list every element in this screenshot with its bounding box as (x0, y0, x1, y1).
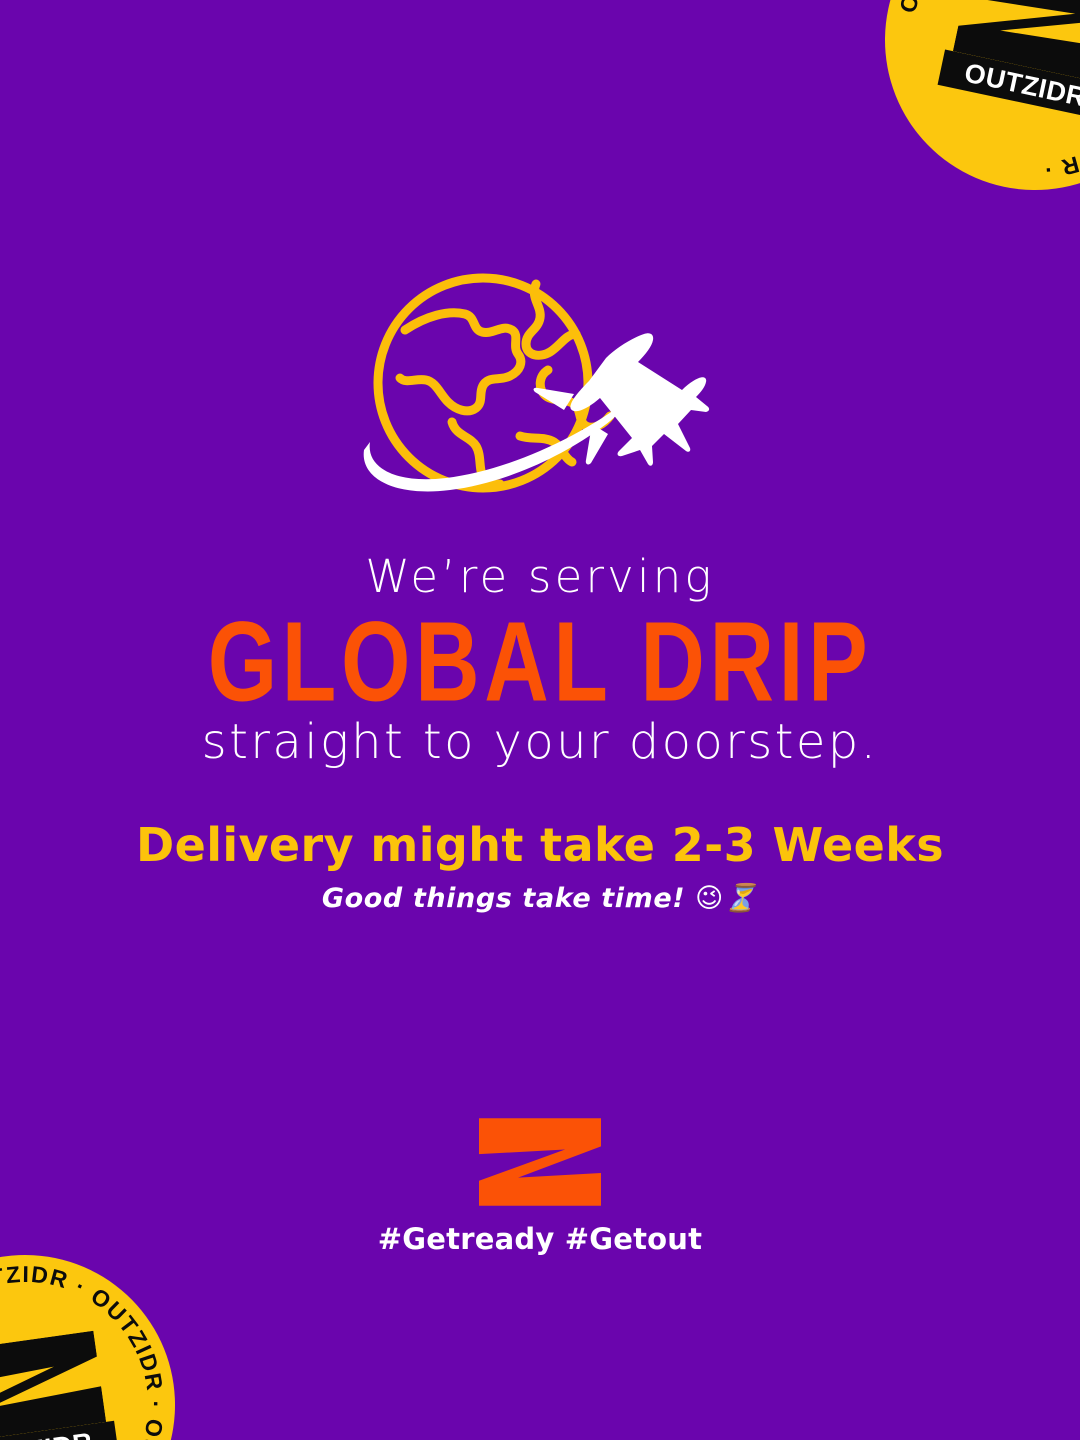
headline-line-2: GLOBAL DRIP (38, 606, 1042, 719)
headline-line-1: We’re serving (0, 552, 1080, 602)
delivery-block: Delivery might take 2-3 Weeks Good thing… (0, 818, 1080, 914)
delivery-note: Good things take time! 😉⏳ (0, 882, 1080, 914)
footer-block: #Getready #Getout (0, 1118, 1080, 1256)
headline-block: We’re serving GLOBAL DRIP straight to yo… (0, 552, 1080, 768)
outzidr-badge-top-right: OUTZIDR · OUTZIDR · OUTZIDR · OUTZIDR · … (857, 0, 1080, 218)
delivery-estimate: Delivery might take 2-3 Weeks (0, 818, 1080, 873)
footer-tagline: #Getready #Getout (378, 1222, 702, 1256)
outzidr-z-logo-icon (479, 1118, 601, 1206)
badge-core: OUTZIDR (0, 1330, 119, 1440)
globe-airplane-svg (360, 272, 720, 504)
outzidr-badge-bottom-left: OUTZIDR · OUTZIDR · OUTZIDR · OUTZIDR · … (0, 1236, 194, 1440)
globe-with-airplane-icon (360, 272, 720, 504)
promo-poster: OUTZIDR · OUTZIDR · OUTZIDR · OUTZIDR · … (0, 0, 1080, 1440)
globe-landmass-left (400, 313, 521, 411)
